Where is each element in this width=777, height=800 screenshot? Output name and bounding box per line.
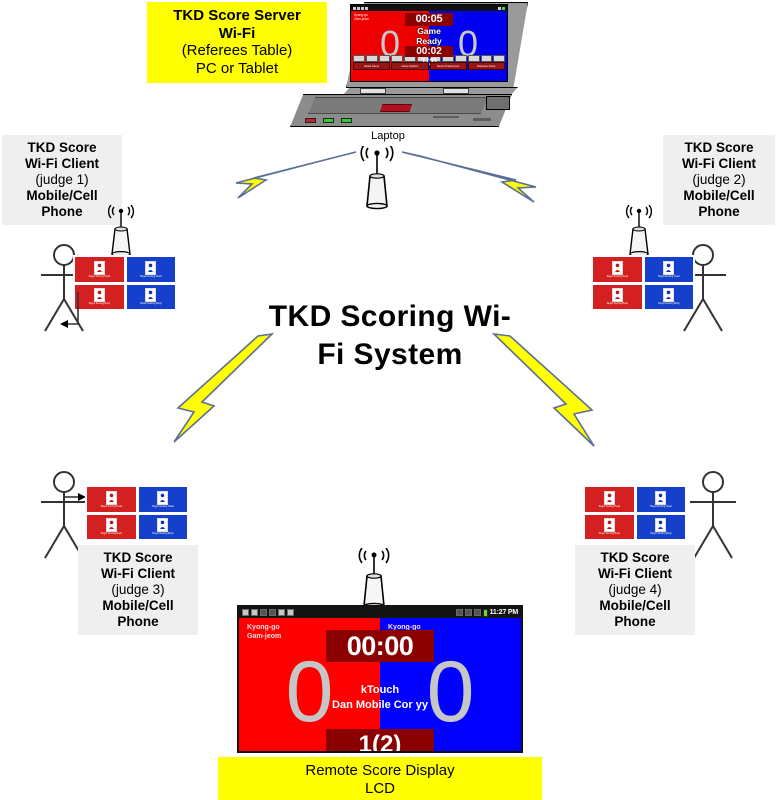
- laptop: Kyong-go Gam-jeom 0 Kyong-go Gam-jeom 0: [288, 0, 523, 135]
- status-dot-icon: [361, 7, 364, 10]
- red-head-target-icon: [94, 261, 105, 275]
- blue-head-target-icon: [663, 261, 674, 275]
- judge-4-line2: Wi-Fi Client: [581, 566, 689, 582]
- reset-game-button[interactable]: Reset Game: [353, 62, 390, 70]
- signal-icon: [498, 7, 501, 10]
- wifi-bolt-upper-right: [398, 150, 598, 210]
- judge-4-label-box: TKD Score Wi-Fi Client (judge 4) Mobile/…: [575, 545, 695, 635]
- pad-cell-caption: Target Scoring Body: [152, 533, 174, 535]
- laptop-timer: 00:05: [405, 13, 453, 26]
- person-glyph: [108, 520, 115, 530]
- pad-cell-blue-head[interactable]: Target Scoring Head: [126, 256, 177, 283]
- pad-cell-red-body[interactable]: Target Scoring Body: [74, 284, 125, 311]
- lcd-caption-line2: LCD: [226, 780, 534, 798]
- pad-cell-red-head[interactable]: Target Scoring Head: [584, 486, 635, 513]
- laptop-screen-frame: Kyong-go Gam-jeom 0 Kyong-go Gam-jeom 0: [350, 4, 508, 82]
- person-glyph: [147, 263, 154, 273]
- pad-cell-caption: Target Scoring Head: [88, 276, 110, 278]
- person-glyph: [614, 290, 621, 300]
- server-preferences-button[interactable]: Server Preferences: [430, 62, 467, 70]
- laptop-caption: Laptop: [338, 130, 438, 142]
- antenna-svg: [355, 146, 399, 210]
- remote-score-display: 11:27 PM Kyong-go Gam-jeom 0 Kyong-go Ga…: [237, 605, 523, 753]
- pad-cell-caption: Target Scoring Body: [658, 303, 680, 305]
- pad-cell-caption: Target Scoring Body: [598, 533, 620, 535]
- signal-icon: [474, 609, 481, 616]
- status-dot-icon: [357, 7, 360, 10]
- red-head-target-icon: [612, 261, 623, 275]
- judge-1-line3: (judge 1): [8, 172, 116, 188]
- judge-3-scoring-pad: Target Scoring Head Target Scoring Head …: [85, 485, 189, 541]
- judge-1-scoring-pad: Target Scoring Head Target Scoring Head …: [73, 255, 177, 311]
- lcd-red-penalties: Kyong-go Gam-jeom: [247, 623, 281, 642]
- judge-1-line1: TKD Score: [8, 140, 116, 156]
- page-title: TKD Scoring Wi-Fi System: [268, 298, 512, 375]
- pad-cell-blue-head[interactable]: Target Scoring Head: [644, 256, 695, 283]
- wifi-icon: [465, 609, 472, 616]
- pad-cell-blue-body[interactable]: Target Scoring Body: [636, 514, 687, 541]
- person-glyph: [96, 290, 103, 300]
- laptop-button-row: Reset Game Game Options Server Preferenc…: [353, 62, 505, 70]
- judge-3-label-box: TKD Score Wi-Fi Client (judge 3) Mobile/…: [78, 545, 198, 635]
- blue-body-target-icon: [655, 518, 666, 532]
- battery-icon: [502, 7, 505, 10]
- judge-3-line5: Phone: [84, 614, 192, 630]
- laptop-vent-icon: [433, 116, 459, 118]
- referees-setup-button[interactable]: Referees Setup: [468, 62, 505, 70]
- alarm-icon: [456, 609, 463, 616]
- person-glyph: [606, 493, 613, 503]
- pad-cell-caption: Target Scoring Body: [100, 533, 122, 535]
- judge-2-line1: TKD Score: [669, 140, 769, 156]
- lcd-app-line2: Dan Mobile Cor yy: [326, 698, 434, 713]
- blue-body-target-icon: [145, 288, 156, 302]
- blue-head-target-icon: [655, 491, 666, 505]
- laptop-right-panel: [486, 96, 510, 110]
- pad-cell-blue-body[interactable]: Target Scoring Body: [126, 284, 177, 311]
- judge-2-line5: Phone: [669, 204, 769, 220]
- lcd-timer: 00:00: [326, 630, 434, 662]
- bolt-svg: [130, 330, 280, 460]
- person-glyph: [96, 263, 103, 273]
- laptop-timer-secondary: 00:02: [405, 46, 453, 57]
- laptop-screen-statusbar: [351, 5, 507, 11]
- judge-2-antenna: [622, 205, 656, 257]
- laptop-touchpad[interactable]: [380, 104, 412, 112]
- judge-4-line3: (judge 4): [581, 582, 689, 598]
- lcd-caption-line1: Remote Score Display: [226, 762, 534, 780]
- screenshot-icon: [251, 609, 258, 616]
- lock-icon: [287, 609, 294, 616]
- person-glyph: [159, 520, 166, 530]
- person-glyph: [606, 520, 613, 530]
- judge-3-line4: Mobile/Cell: [84, 598, 192, 614]
- status-dot-icon: [353, 7, 356, 10]
- keypad-key[interactable]: [468, 55, 480, 62]
- judge-4-line5: Phone: [581, 614, 689, 630]
- person-glyph: [665, 290, 672, 300]
- pad-cell-caption: Target Scoring Head: [140, 276, 162, 278]
- battery-icon: [483, 609, 488, 617]
- laptop-state-line2: Ready: [405, 36, 453, 46]
- blue-head-target-icon: [157, 491, 168, 505]
- person-glyph: [614, 263, 621, 273]
- pad-cell-caption: Target Scoring Head: [650, 506, 672, 508]
- pad-cell-caption: Target Scoring Head: [598, 506, 620, 508]
- red-body-target-icon: [106, 518, 117, 532]
- laptop-red-corner: Kyong-go Gam-jeom: [354, 13, 369, 21]
- mail-icon: [278, 609, 285, 616]
- pad-cell-red-head[interactable]: Target Scoring Head: [86, 486, 137, 513]
- pad-cell-blue-head[interactable]: Target Scoring Head: [636, 486, 687, 513]
- pad-cell-caption: Target Scoring Body: [650, 533, 672, 535]
- keypad-key[interactable]: [391, 55, 403, 62]
- laptop-side-port: [473, 118, 491, 121]
- lcd-red-gamjeom: Gam-jeom: [247, 632, 281, 641]
- central-antenna: [355, 146, 399, 210]
- judge-2-line3: (judge 2): [669, 172, 769, 188]
- lcd-round: 1(2): [326, 729, 434, 753]
- red-head-target-icon: [604, 491, 615, 505]
- judge-1-pointer: [58, 290, 80, 328]
- keypad-key[interactable]: [481, 55, 493, 62]
- red-head-target-icon: [106, 491, 117, 505]
- game-options-button[interactable]: Game Options: [391, 62, 428, 70]
- laptop-hinge-notch-right: [443, 88, 469, 94]
- judge-4-scoring-pad: Target Scoring Head Target Scoring Head …: [583, 485, 687, 541]
- status-led-icon: [323, 118, 334, 123]
- pad-cell-caption: Target Scoring Body: [606, 303, 628, 305]
- red-body-target-icon: [612, 288, 623, 302]
- judge-2-line4: Mobile/Cell: [669, 188, 769, 204]
- sd-card-icon: [242, 609, 249, 616]
- keypad-key[interactable]: [455, 55, 467, 62]
- judge-1-line4: Mobile/Cell: [8, 188, 116, 204]
- laptop-center-panel: 00:05 Game Ready 00:02 1(2): [405, 13, 453, 67]
- blue-body-target-icon: [663, 288, 674, 302]
- pad-cell-caption: Target Scoring Head: [100, 506, 122, 508]
- lcd-center-column: 00:00 kTouch Dan Mobile Cor yy 1(2): [326, 607, 434, 753]
- antenna-svg: [104, 205, 138, 257]
- pad-cell-red-body[interactable]: Target Scoring Body: [584, 514, 635, 541]
- laptop-red-gamjeom: Gam-jeom: [354, 17, 369, 21]
- judge-3-line3: (judge 3): [84, 582, 192, 598]
- keypad-key[interactable]: [366, 55, 378, 62]
- tkd-scoring-system-diagram: TKD Score Server Wi-Fi (Referees Table) …: [0, 0, 777, 800]
- person-glyph: [657, 520, 664, 530]
- lcd-red-kyonggo: Kyong-go: [247, 623, 281, 632]
- judge-4-line1: TKD Score: [581, 550, 689, 566]
- lcd-app-name: kTouch Dan Mobile Cor yy: [326, 683, 434, 713]
- bolt-svg: [180, 150, 360, 205]
- judge-1-line2: Wi-Fi Client: [8, 156, 116, 172]
- lcd-app-line1: kTouch: [326, 683, 434, 698]
- pad-cell-caption: Target Scoring Head: [606, 276, 628, 278]
- lcd-caption-box: Remote Score Display LCD: [218, 757, 542, 800]
- keypad-key[interactable]: [353, 55, 365, 62]
- blue-head-target-icon: [145, 261, 156, 275]
- pad-cell-blue-body[interactable]: Target Scoring Body: [138, 514, 189, 541]
- usb-icon: [269, 609, 276, 616]
- blue-body-target-icon: [157, 518, 168, 532]
- pointer-arrow-icon: [58, 290, 80, 328]
- lcd-status-icons-right: 11:27 PM: [456, 609, 518, 617]
- disk-led-icon: [341, 118, 352, 123]
- antenna-svg: [352, 548, 396, 610]
- laptop-status-icons-right: [498, 7, 505, 10]
- person-glyph: [147, 290, 154, 300]
- red-body-target-icon: [94, 288, 105, 302]
- pad-cell-blue-body[interactable]: Target Scoring Body: [644, 284, 695, 311]
- judge-4-line4: Mobile/Cell: [581, 598, 689, 614]
- pad-cell-red-body[interactable]: Target Scoring Body: [592, 284, 643, 311]
- red-body-target-icon: [604, 518, 615, 532]
- judge-2-line2: Wi-Fi Client: [669, 156, 769, 172]
- wifi-bolt-lower-left: [130, 330, 280, 460]
- lcd-clock: 11:27 PM: [490, 609, 518, 616]
- pad-cell-caption: Target Scoring Body: [140, 303, 162, 305]
- wifi-bolt-upper-left: [180, 150, 360, 205]
- laptop-status-icons-left: [353, 7, 368, 10]
- laptop-scoreboard: Kyong-go Gam-jeom 0 Kyong-go Gam-jeom 0: [351, 5, 507, 81]
- page-title-line1: TKD Scoring: [269, 300, 455, 333]
- pad-cell-blue-head[interactable]: Target Scoring Head: [138, 486, 189, 513]
- pad-cell-caption: Target Scoring Body: [88, 303, 110, 305]
- keypad-key[interactable]: [379, 55, 391, 62]
- pad-cell-red-head[interactable]: Target Scoring Head: [74, 256, 125, 283]
- page-title-line3: System: [354, 338, 463, 371]
- pad-cell-red-head[interactable]: Target Scoring Head: [592, 256, 643, 283]
- judge-3-line1: TKD Score: [84, 550, 192, 566]
- person-glyph: [159, 493, 166, 503]
- person-glyph: [108, 493, 115, 503]
- judge-3-line2: Wi-Fi Client: [84, 566, 192, 582]
- status-dot-icon: [365, 7, 368, 10]
- lcd-antenna: [352, 548, 396, 610]
- notification-icon: [260, 609, 267, 616]
- power-led-icon: [305, 118, 316, 123]
- judge-1-line5: Phone: [8, 204, 116, 220]
- laptop-state-line1: Game: [405, 26, 453, 36]
- laptop-hinge-notch-left: [360, 88, 386, 94]
- person-glyph: [657, 493, 664, 503]
- pad-cell-red-body[interactable]: Target Scoring Body: [86, 514, 137, 541]
- bolt-svg: [398, 150, 598, 210]
- judge-2-scoring-pad: Target Scoring Head Target Scoring Head …: [591, 255, 695, 311]
- judge-2-label-box: TKD Score Wi-Fi Client (judge 2) Mobile/…: [663, 135, 775, 225]
- lcd-status-icons-left: [242, 609, 294, 616]
- pad-cell-caption: Target Scoring Head: [152, 506, 174, 508]
- judge-1-antenna: [104, 205, 138, 257]
- person-glyph: [665, 263, 672, 273]
- keypad-key[interactable]: [493, 55, 505, 62]
- pad-cell-caption: Target Scoring Head: [658, 276, 680, 278]
- antenna-svg: [622, 205, 656, 257]
